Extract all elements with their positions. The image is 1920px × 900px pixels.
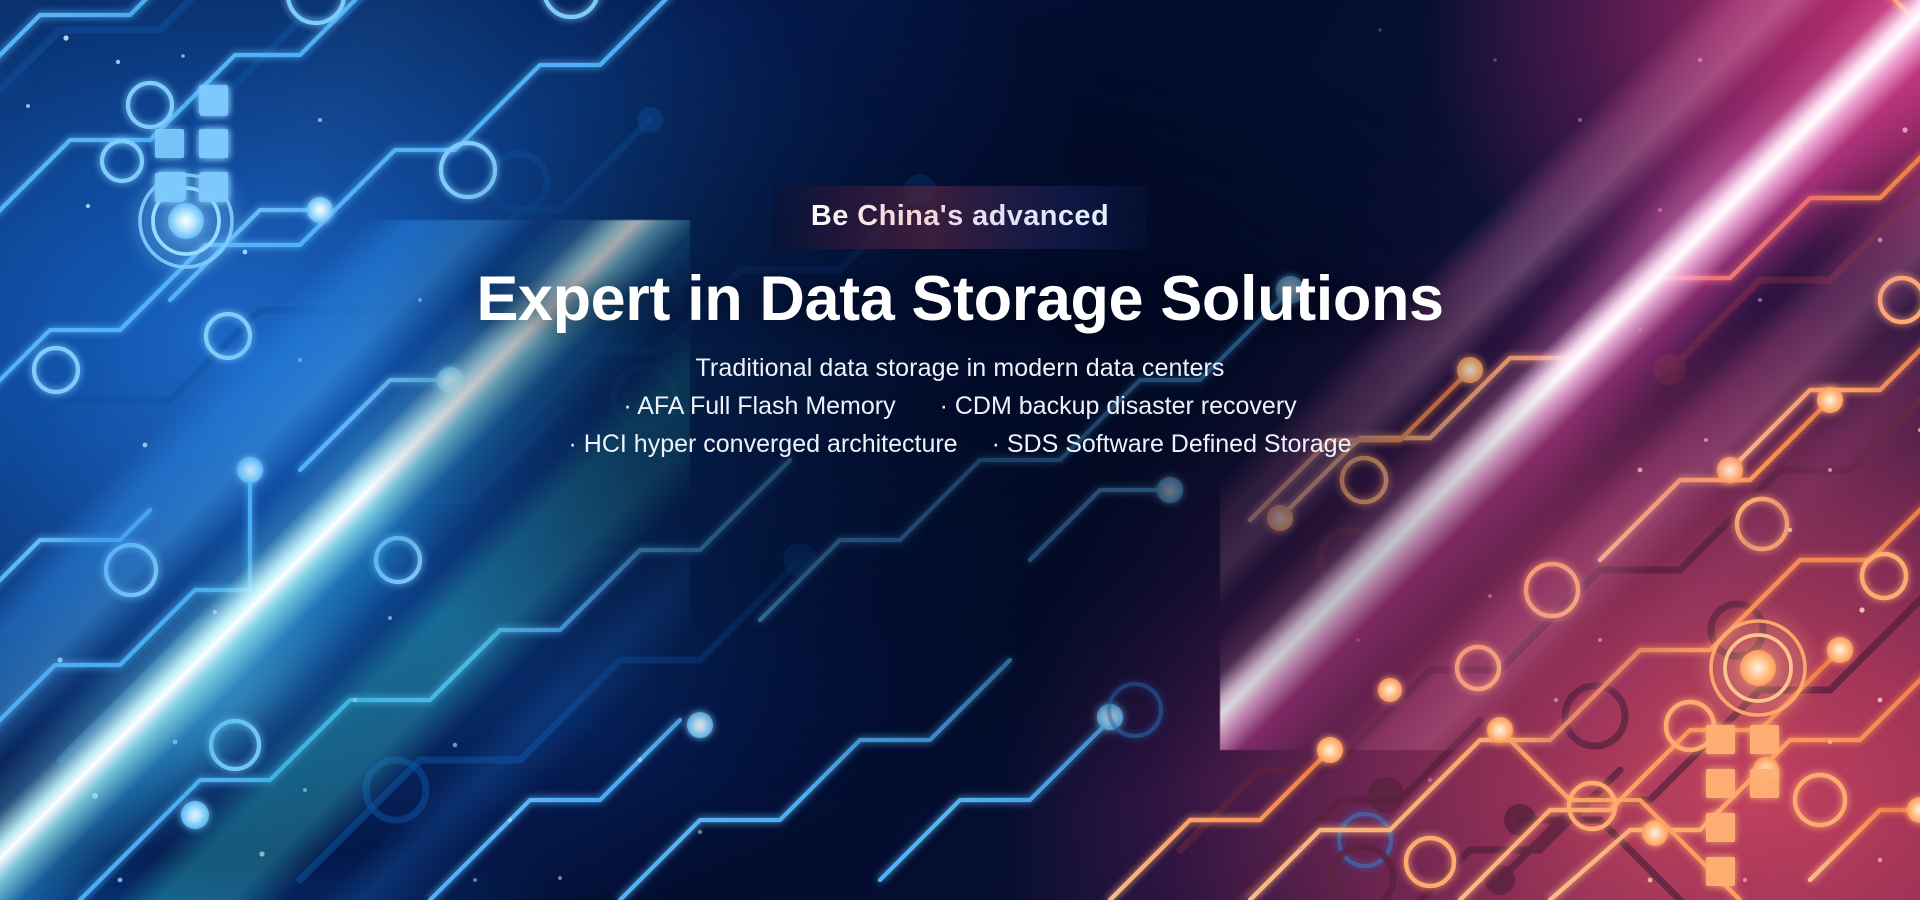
bullet-row: · HCI hyper converged architecture · SDS…: [569, 430, 1352, 459]
hero-banner: Be China's advanced Expert in Data Stora…: [0, 0, 1920, 900]
hero-subtitle: Traditional data storage in modern data …: [695, 354, 1224, 383]
hero-title: Expert in Data Storage Solutions: [476, 265, 1443, 333]
bullet-item-afa: · AFA Full Flash Memory: [623, 392, 895, 421]
bullet-item-cdm: · CDM backup disaster recovery: [940, 392, 1297, 421]
eyebrow-text: Be China's advanced: [811, 200, 1109, 233]
bullet-row: · AFA Full Flash Memory · CDM backup dis…: [623, 392, 1296, 421]
bullet-item-sds: · SDS Software Defined Storage: [992, 430, 1352, 459]
feature-bullet-list: · AFA Full Flash Memory · CDM backup dis…: [569, 392, 1352, 459]
bullet-item-hci: · HCI hyper converged architecture: [569, 430, 958, 459]
hero-content: Be China's advanced Expert in Data Stora…: [0, 0, 1920, 900]
eyebrow-backdrop: Be China's advanced: [773, 186, 1147, 249]
